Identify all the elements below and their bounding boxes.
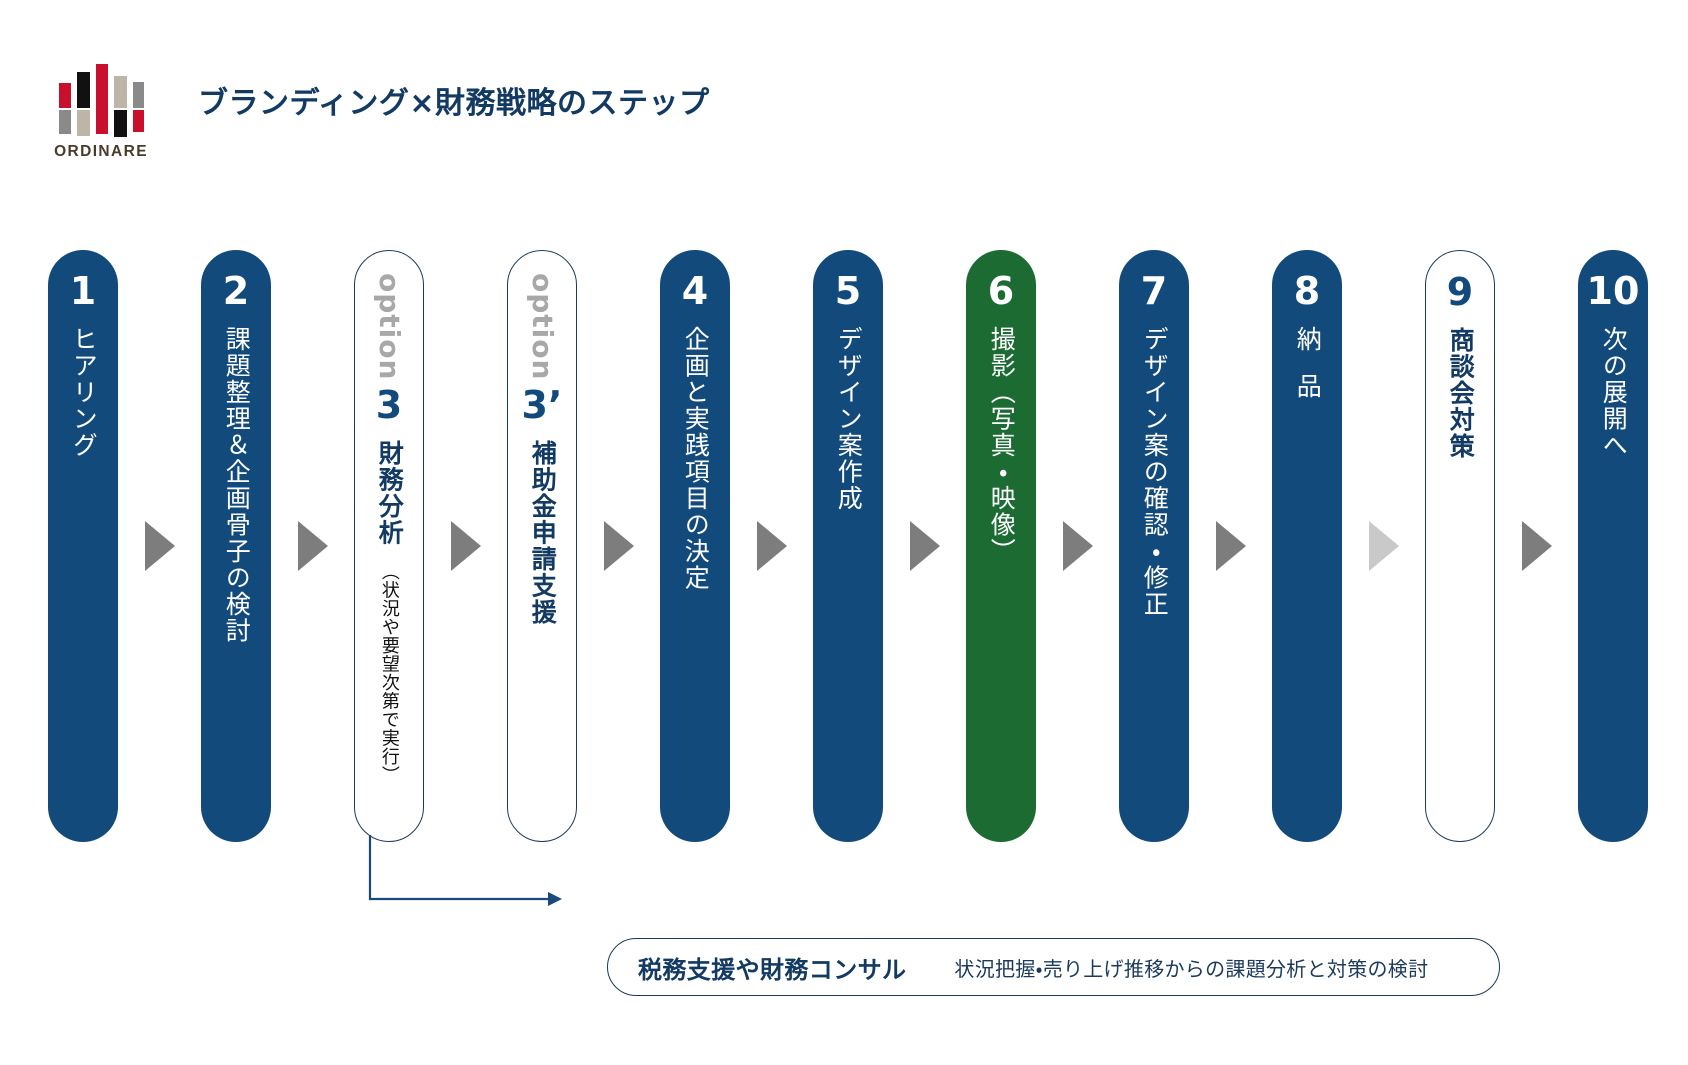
card-number: 5 xyxy=(835,272,861,310)
flow-arrow-9-10-icon xyxy=(1495,250,1578,842)
triangle-right-icon xyxy=(298,521,328,571)
flow-arrow-8-9-icon xyxy=(1342,250,1425,842)
card-label: 納品 xyxy=(1293,326,1322,420)
flow-card-step-2[interactable]: 2課題整理＆企画骨子の検討 xyxy=(201,250,271,842)
flow-arrow-5-6-icon xyxy=(883,250,966,842)
flow-card-step-7[interactable]: 7デザイン案の確認・修正 xyxy=(1119,250,1189,842)
flow-card-step-10[interactable]: 10次の展開へ xyxy=(1578,250,1648,842)
triangle-right-icon xyxy=(1522,521,1552,571)
flow-arrow-3prime-4-icon xyxy=(577,250,660,842)
card-label: ヒアリング xyxy=(69,326,98,459)
banner-headline: 税務支援や財務コンサル xyxy=(638,950,906,985)
page-title: ブランディング×財務戦略のステップ xyxy=(198,78,710,122)
card-number: 6 xyxy=(988,272,1014,310)
card-label: 財務分析 xyxy=(375,440,404,546)
flow-card-step-6[interactable]: 6撮影（写真・映像） xyxy=(966,250,1036,842)
card-label: 次の展開へ xyxy=(1599,326,1628,459)
support-banner: 税務支援や財務コンサル 状況把握・売り上げ推移からの課題分析と対策の検討 xyxy=(607,938,1500,996)
card-subtext: （状況や要望次第で実行） xyxy=(379,562,399,784)
flow-arrow-2-3-icon xyxy=(271,250,354,842)
card-label: デザイン案の確認・修正 xyxy=(1140,326,1169,618)
brand-wordmark: ORDINARE xyxy=(54,143,148,161)
card-number: 1 xyxy=(70,272,96,310)
flow-arrow-6-7-icon xyxy=(1036,250,1119,842)
ordinare-bars-logo-icon xyxy=(57,62,145,134)
flow-card-step-3-prime-option[interactable]: option3’補助金申請支援 xyxy=(507,250,577,842)
option-to-banner-connector xyxy=(330,835,630,945)
brand-logo: ORDINARE xyxy=(52,62,150,161)
flow-card-step-1[interactable]: 1ヒアリング xyxy=(48,250,118,842)
card-label: 商談会対策 xyxy=(1446,327,1475,460)
card-number: 10 xyxy=(1587,272,1640,310)
flow-card-step-3-option[interactable]: option3財務分析（状況や要望次第で実行） xyxy=(354,250,424,842)
slide-canvas: ORDINARE ブランディング×財務戦略のステップ 1ヒアリング2課題整理＆企… xyxy=(0,0,1688,1065)
flow-card-step-8[interactable]: 8納品 xyxy=(1272,250,1342,842)
card-label: 企画と実践項目の決定 xyxy=(681,326,710,591)
card-label: デザイン案作成 xyxy=(834,326,863,512)
card-number: 3’ xyxy=(522,386,563,424)
card-label: 補助金申請支援 xyxy=(528,440,557,626)
card-number: 7 xyxy=(1141,272,1167,310)
card-label: 課題整理＆企画骨子の検討 xyxy=(222,326,251,644)
card-label: 撮影（写真・映像） xyxy=(987,326,1016,565)
card-number: 4 xyxy=(682,272,708,310)
card-number: 3 xyxy=(376,386,402,424)
process-flow: 1ヒアリング2課題整理＆企画骨子の検討option3財務分析（状況や要望次第で実… xyxy=(48,250,1648,850)
card-number: 9 xyxy=(1447,273,1473,311)
card-option-tag: option xyxy=(528,273,556,380)
flow-arrow-1-2-icon xyxy=(118,250,201,842)
triangle-right-icon xyxy=(451,521,481,571)
flow-card-step-4[interactable]: 4企画と実践項目の決定 xyxy=(660,250,730,842)
flow-card-step-5[interactable]: 5デザイン案作成 xyxy=(813,250,883,842)
flow-card-step-9[interactable]: 9商談会対策 xyxy=(1425,250,1495,842)
triangle-right-icon xyxy=(757,521,787,571)
triangle-right-icon xyxy=(604,521,634,571)
triangle-right-icon xyxy=(910,521,940,571)
flow-arrow-3-3prime-icon xyxy=(424,250,507,842)
header: ORDINARE ブランディング×財務戦略のステップ xyxy=(52,62,710,161)
card-option-tag: option xyxy=(375,273,403,380)
banner-description: 状況把握・売り上げ推移からの課題分析と対策の検討 xyxy=(954,953,1428,982)
flow-arrow-4-5-icon xyxy=(730,250,813,842)
triangle-right-icon xyxy=(1369,521,1399,571)
flow-arrow-7-8-icon xyxy=(1189,250,1272,842)
triangle-right-icon xyxy=(145,521,175,571)
card-number: 2 xyxy=(223,272,249,310)
triangle-right-icon xyxy=(1063,521,1093,571)
card-number: 8 xyxy=(1294,272,1320,310)
triangle-right-icon xyxy=(1216,521,1246,571)
